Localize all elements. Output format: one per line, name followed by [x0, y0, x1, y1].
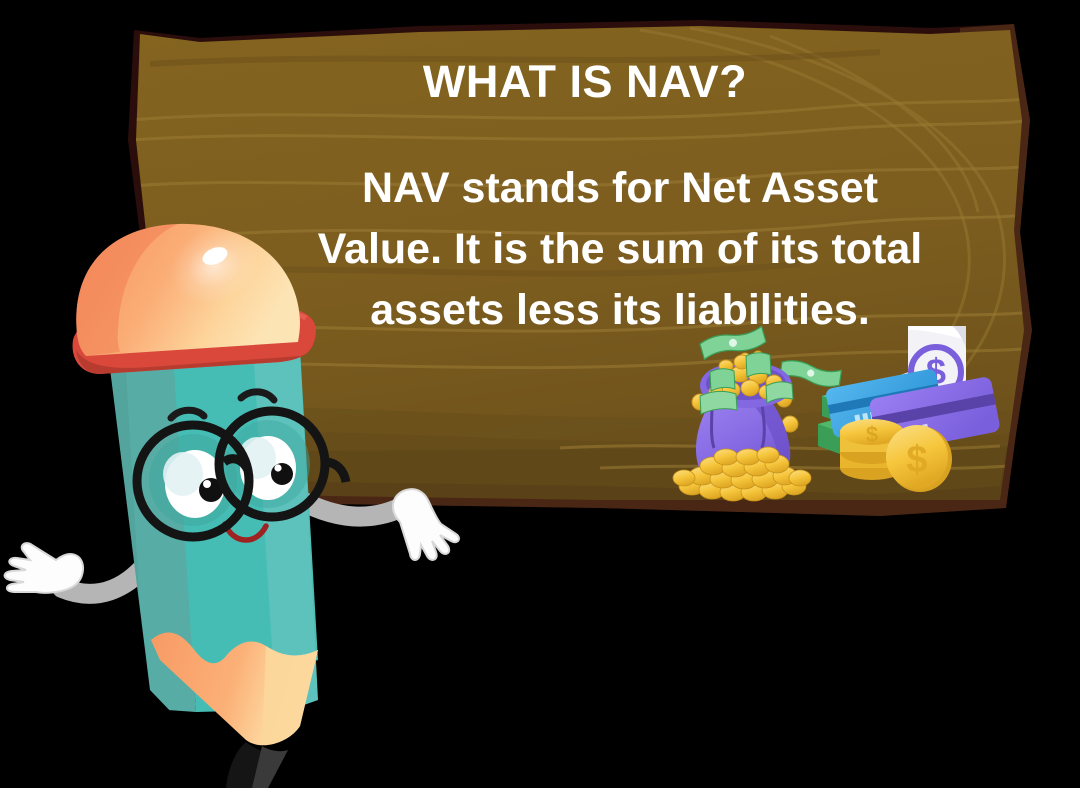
body-line-2: Value. It is the sum of its total — [230, 219, 1010, 280]
body-line-1: NAV stands for Net Asset — [230, 158, 1010, 219]
board-title: WHAT IS NAV? — [170, 58, 1000, 105]
pupil-right — [271, 463, 293, 485]
svg-text:$: $ — [906, 439, 927, 481]
svg-text:$: $ — [866, 422, 878, 447]
illustration-canvas: $ — [0, 0, 1080, 788]
scene-illustration: $ — [0, 0, 1080, 788]
body-line-3: assets less its liabilities. — [230, 280, 1010, 341]
board-body-text: NAV stands for Net Asset Value. It is th… — [230, 158, 1010, 341]
